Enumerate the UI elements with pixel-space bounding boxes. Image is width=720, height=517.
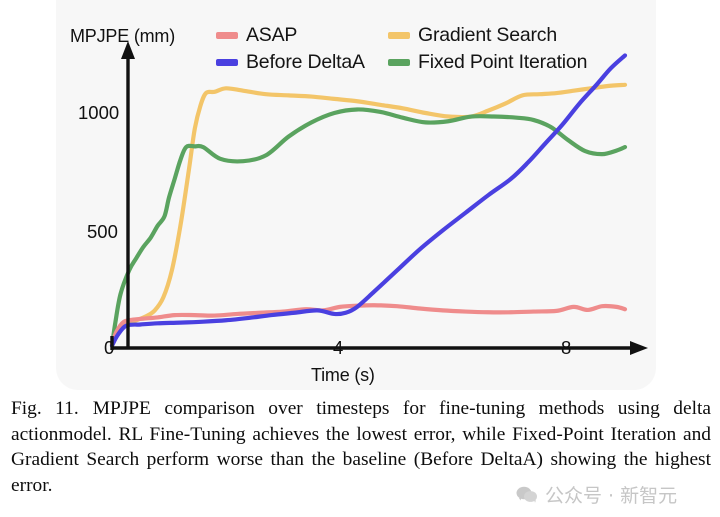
y-axis-title: MPJPE (mm) — [70, 26, 175, 47]
series-layer — [112, 55, 625, 345]
legend-label-before-deltaa: Before DeltaA — [246, 51, 365, 74]
y-tick-label-500: 500 — [87, 221, 118, 243]
legend-item-asap: ASAP — [216, 24, 388, 47]
legend-label-fixed-point-iteration: Fixed Point Iteration — [418, 51, 587, 74]
legend-label-gradient-search: Gradient Search — [418, 24, 557, 47]
legend-item-fixed-point-iteration: Fixed Point Iteration — [388, 51, 638, 74]
x-tick-label-0: 0 — [104, 337, 114, 359]
y-axis — [121, 41, 135, 348]
legend-swatch-before-deltaa — [216, 59, 238, 66]
y-tick-label-1000: 1000 — [78, 102, 119, 124]
legend-swatch-fixed-point-iteration — [388, 59, 410, 66]
x-axis-title: Time (s) — [311, 365, 375, 386]
watermark-text: 公众号 · 新智元 — [545, 481, 677, 508]
series-line-before-deltaa — [112, 55, 625, 345]
figure-caption-label: Fig. 11. — [11, 398, 79, 419]
legend-swatch-asap — [216, 32, 238, 39]
legend-label-asap: ASAP — [246, 24, 297, 47]
series-line-asap — [112, 305, 625, 344]
wechat-icon — [516, 486, 538, 504]
x-tick-label-4: 4 — [333, 337, 343, 359]
legend-item-gradient-search: Gradient Search — [388, 24, 638, 47]
watermark: 公众号 · 新智元 — [516, 481, 677, 508]
legend-swatch-gradient-search — [388, 32, 410, 39]
chart-legend: ASAP Gradient Search Before DeltaA Fixed… — [216, 22, 636, 76]
legend-item-before-deltaa: Before DeltaA — [216, 51, 388, 74]
x-tick-label-8: 8 — [561, 337, 571, 359]
